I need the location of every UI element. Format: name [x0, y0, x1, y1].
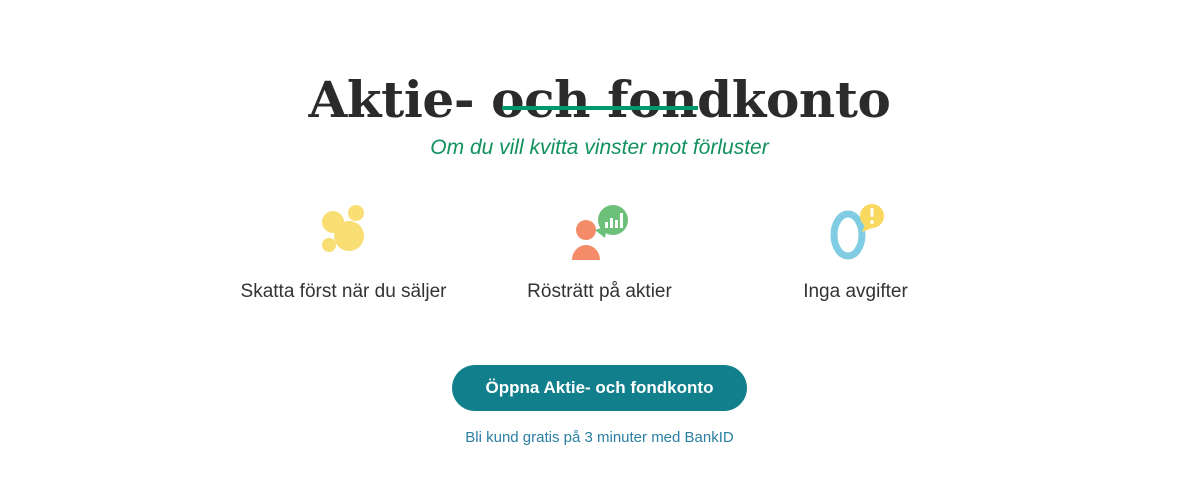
zero-with-exclamation-bubble-icon [820, 200, 892, 264]
feature-item-skatta: Skatta först när du säljer [216, 200, 472, 304]
coins-icon [308, 200, 380, 264]
hero-page: Aktie- och fondkonto Om du vill kvitta v… [0, 0, 1199, 479]
open-account-button[interactable]: Öppna Aktie- och fondkonto [452, 365, 748, 411]
feature-label: Skatta först när du säljer [241, 280, 447, 304]
feature-item-inga-avgifter: Inga avgifter [728, 200, 984, 304]
feature-label: Rösträtt på aktier [527, 280, 672, 304]
title-divider [502, 106, 698, 110]
feature-list: Skatta först när du säljer [0, 200, 1199, 304]
feature-label: Inga avgifter [803, 280, 908, 304]
title-divider-wrap [0, 106, 1199, 110]
feature-item-rostratt: Rösträtt på aktier [472, 200, 728, 304]
cta-section: Öppna Aktie- och fondkonto Bli kund grat… [0, 365, 1199, 447]
person-with-chart-bubble-icon [564, 200, 636, 264]
page-title: Aktie- och fondkonto [0, 70, 1199, 130]
become-customer-link[interactable]: Bli kund gratis på 3 minuter med BankID [465, 428, 733, 447]
page-subtitle: Om du vill kvitta vinster mot förluster [0, 135, 1199, 161]
